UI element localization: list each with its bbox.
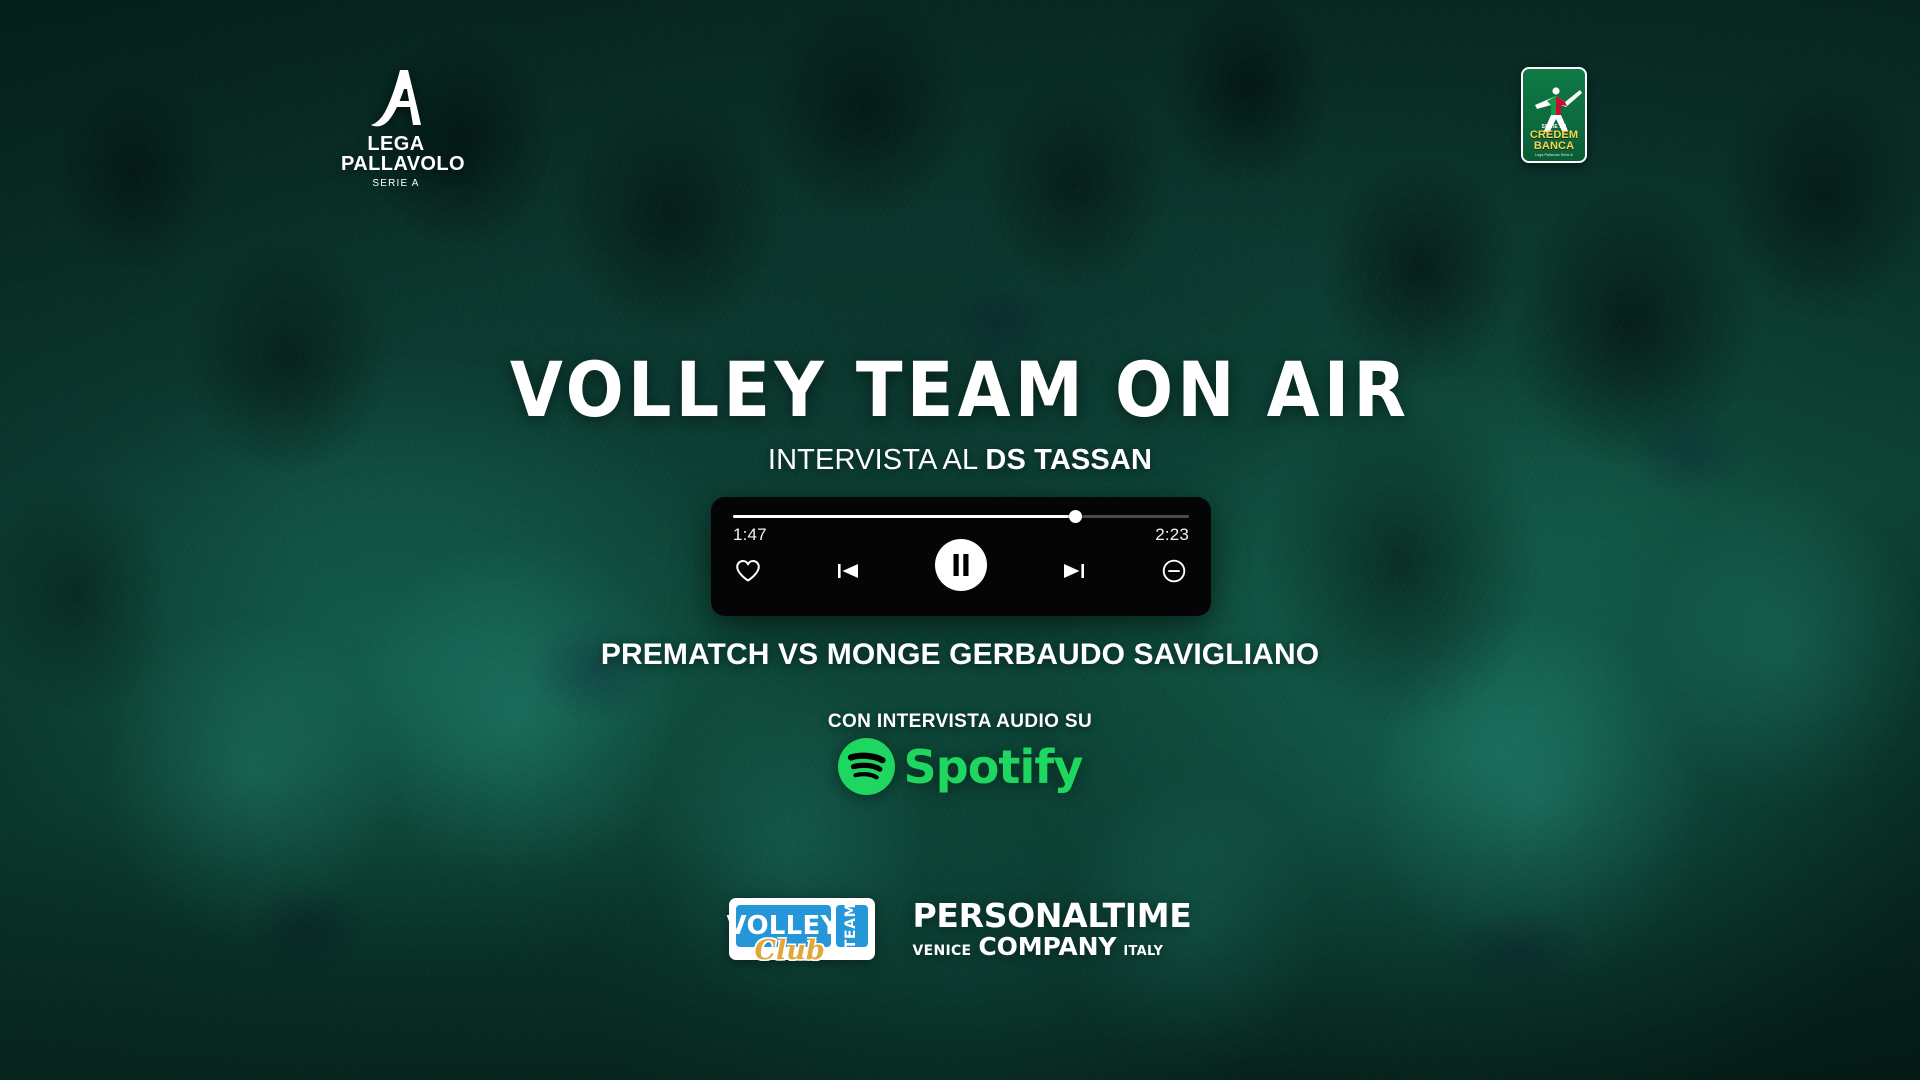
audio-player: 1:47 2:23 [711, 497, 1211, 616]
pause-icon [949, 552, 973, 578]
spotify-wordmark: Spotify [904, 744, 1083, 790]
progress-bar[interactable] [733, 511, 1189, 521]
lega-pallavolo-logo: LEGA PALLAVOLO SERIE A [341, 68, 451, 189]
volley-team-club-logo: VOLLEY TEAM Club [729, 898, 875, 960]
personaltime-company: COMPANY [978, 934, 1116, 959]
minus-circle-icon [1161, 558, 1187, 584]
previous-button[interactable] [835, 559, 861, 583]
content-overlay: LEGA PALLAVOLO SERIE A SERIE A2 CREDEM B… [0, 0, 1920, 1080]
spotify-icon [838, 738, 895, 795]
progress-fill [733, 515, 1075, 518]
personaltime-venice: VENICE [913, 944, 972, 958]
lega-logo-line2: PALLAVOLO [341, 154, 451, 174]
subtitle-emphasis: DS TASSAN [985, 444, 1152, 476]
next-track-icon [1061, 559, 1087, 583]
remove-button[interactable] [1161, 558, 1187, 584]
player-controls [733, 551, 1189, 591]
prematch-line: PREMATCH VS MONGE GERBAUDO SAVIGLIANO [0, 640, 1920, 670]
total-time: 2:23 [1155, 525, 1189, 545]
spotify-logo[interactable]: Spotify [0, 738, 1920, 795]
personaltime-logo: PERSONALTIME VENICE COMPANY ITALY [913, 899, 1192, 959]
club-text: Club [755, 937, 825, 964]
credem-name-line2: BANCA [1523, 141, 1585, 152]
prematch-opponent: MONGE GERBAUDO SAVIGLIANO [827, 638, 1319, 671]
sponsor-row: VOLLEY TEAM Club PERSONALTIME VENICE COM… [0, 898, 1920, 960]
lega-logo-line3: SERIE A [341, 178, 451, 189]
page-title: VOLLEY TEAM ON AIR [0, 352, 1920, 428]
subtitle-prefix: INTERVISTA AL [768, 444, 985, 476]
team-text: TEAM [845, 903, 859, 949]
personaltime-line1: PERSONALTIME [913, 899, 1192, 932]
audio-platform-label: CON INTERVISTA AUDIO SU [0, 711, 1920, 733]
credem-subtitle: Lega Pallavolo Serie A [1523, 153, 1585, 157]
lega-pallavolo-a-icon [367, 68, 425, 130]
personaltime-italy: ITALY [1123, 945, 1163, 958]
promo-graphic-stage: LEGA PALLAVOLO SERIE A SERIE A2 CREDEM B… [0, 0, 1920, 1080]
next-button[interactable] [1061, 559, 1087, 583]
like-button[interactable] [735, 559, 761, 583]
credem-banca-badge: SERIE A2 CREDEM BANCA Lega Pallavolo Ser… [1521, 67, 1587, 163]
current-time: 1:47 [733, 525, 767, 545]
like-heart-icon [735, 559, 761, 583]
lega-logo-line1: LEGA [341, 134, 451, 154]
subtitle: INTERVISTA AL DS TASSAN [0, 446, 1920, 475]
prematch-prefix: PREMATCH VS [601, 638, 827, 671]
progress-thumb[interactable] [1069, 510, 1082, 523]
play-pause-button[interactable] [935, 539, 987, 591]
previous-track-icon [835, 559, 861, 583]
